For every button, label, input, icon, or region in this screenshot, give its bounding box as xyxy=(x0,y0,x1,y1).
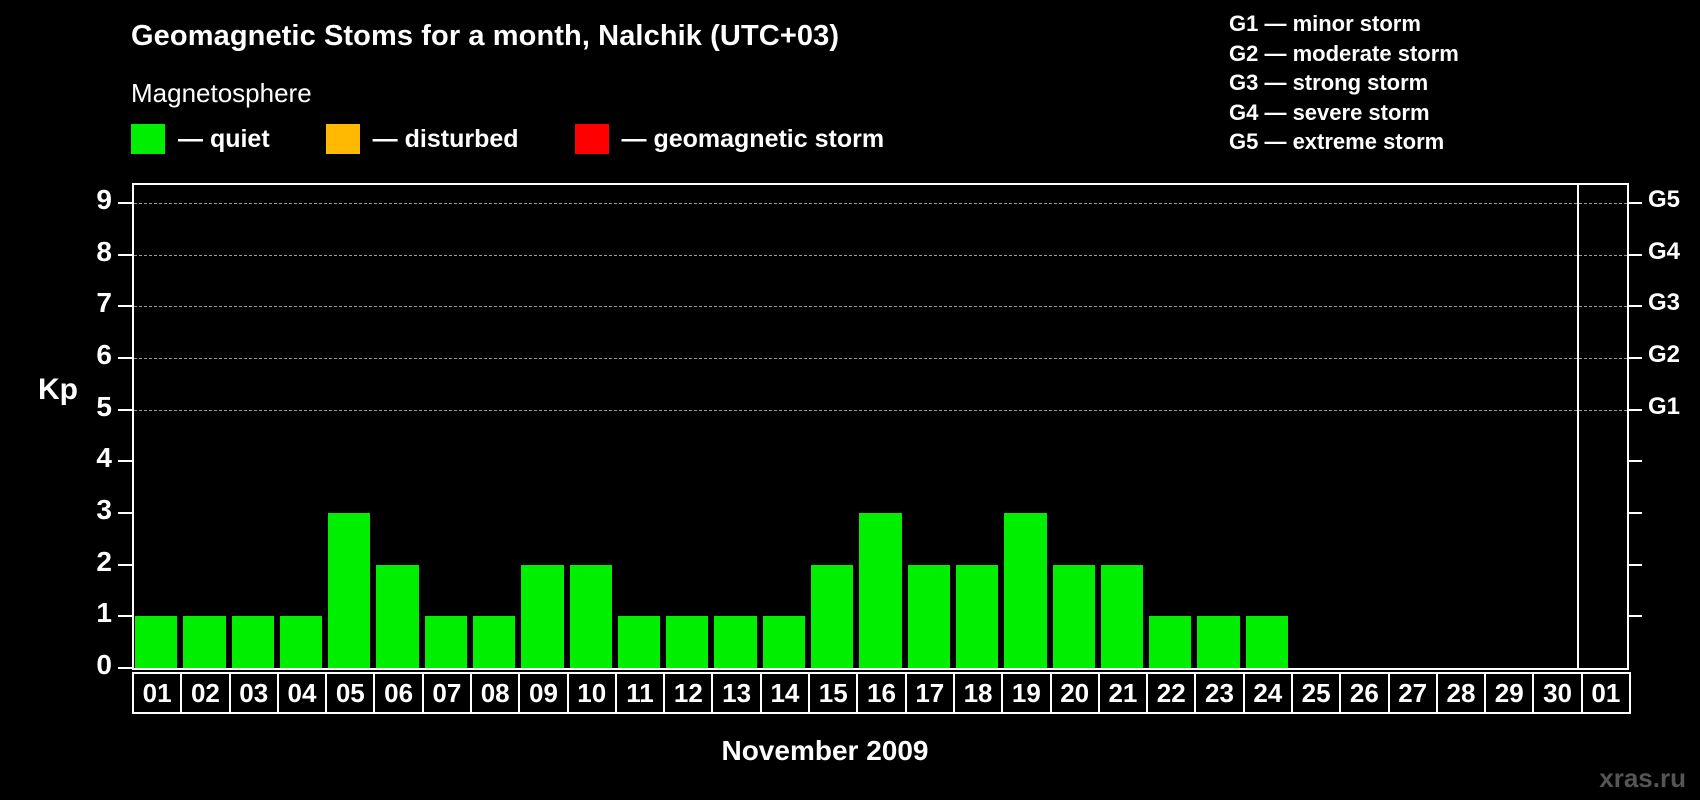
plot-inner-right-border xyxy=(1577,183,1579,670)
y-tick-4 xyxy=(118,460,132,462)
bar-day-17 xyxy=(908,565,950,668)
bar-series xyxy=(132,183,1577,668)
green-swatch-icon xyxy=(131,124,165,154)
x-axis-day-cell: 12 xyxy=(663,672,713,714)
y-tick-label-4: 4 xyxy=(72,442,112,474)
x-axis-day-cell: 05 xyxy=(325,672,375,714)
plot-baseline xyxy=(132,668,1629,670)
bar-day-01 xyxy=(135,616,177,668)
red-swatch-icon xyxy=(575,124,609,154)
g-tick-label-g3: G3 xyxy=(1648,289,1680,317)
g-tick-kp-2 xyxy=(1629,564,1642,566)
y-tick-label-1: 1 xyxy=(72,597,112,629)
x-axis-day-cell: 14 xyxy=(760,672,810,714)
g-scale-row-g1: G1 — minor storm xyxy=(1229,9,1459,39)
bar-day-10 xyxy=(570,565,612,668)
x-axis-day-cell: 24 xyxy=(1243,672,1293,714)
x-axis-day-cell: 30 xyxy=(1532,672,1582,714)
g-tick-kp-3 xyxy=(1629,512,1642,514)
bar-day-13 xyxy=(714,616,756,668)
x-axis-day-cell: 11 xyxy=(615,672,665,714)
bar-day-14 xyxy=(763,616,805,668)
x-axis-day-cell: 25 xyxy=(1291,672,1341,714)
legend-item-disturbed: — disturbed xyxy=(326,124,519,154)
x-axis-day-cell: 17 xyxy=(905,672,955,714)
bar-day-23 xyxy=(1197,616,1239,668)
bar-day-07 xyxy=(425,616,467,668)
x-axis-day-cell: 20 xyxy=(1050,672,1100,714)
x-axis-day-cell: 07 xyxy=(422,672,472,714)
plot-outer-right-border xyxy=(1627,183,1629,670)
magnetosphere-heading: Magnetosphere xyxy=(131,78,312,109)
bar-day-02 xyxy=(183,616,225,668)
x-axis-day-cell: 19 xyxy=(1001,672,1051,714)
y-tick-label-9: 9 xyxy=(72,184,112,216)
x-axis-day-cell: 18 xyxy=(953,672,1003,714)
bar-day-04 xyxy=(280,616,322,668)
g-tick-kp-4 xyxy=(1629,460,1642,462)
x-axis-day-cell: 26 xyxy=(1339,672,1389,714)
x-axis-day-cell: 01 xyxy=(1581,672,1631,714)
y-tick-2 xyxy=(118,564,132,566)
legend-label-quiet: — quiet xyxy=(178,125,270,154)
x-axis-day-cell: 10 xyxy=(567,672,617,714)
g-scale-row-g5: G5 — extreme storm xyxy=(1229,127,1459,157)
chart-canvas: Geomagnetic Stoms for a month, Nalchik (… xyxy=(0,0,1700,800)
watermark: xras.ru xyxy=(1599,763,1686,794)
bar-day-16 xyxy=(859,513,901,668)
y-tick-label-0: 0 xyxy=(72,649,112,681)
y-tick-label-6: 6 xyxy=(72,339,112,371)
bar-day-20 xyxy=(1053,565,1095,668)
x-axis-day-cell: 29 xyxy=(1484,672,1534,714)
bar-day-18 xyxy=(956,565,998,668)
bar-day-08 xyxy=(473,616,515,668)
page-title: Geomagnetic Stoms for a month, Nalchik (… xyxy=(131,20,839,53)
y-axis-title: Kp xyxy=(38,373,78,407)
g-scale-legend: G1 — minor storm G2 — moderate storm G3 … xyxy=(1229,9,1459,157)
bar-day-05 xyxy=(328,513,370,668)
bar-day-22 xyxy=(1149,616,1191,668)
legend-item-quiet: — quiet xyxy=(131,124,270,154)
g-scale-row-g4: G4 — severe storm xyxy=(1229,98,1459,128)
x-axis-day-cell: 13 xyxy=(711,672,761,714)
y-tick-7 xyxy=(118,305,132,307)
y-tick-3 xyxy=(118,512,132,514)
x-axis-day-cell: 27 xyxy=(1388,672,1438,714)
x-axis-title: November 2009 xyxy=(0,735,1700,767)
g-tick-kp-6 xyxy=(1629,357,1642,359)
y-tick-label-2: 2 xyxy=(72,546,112,578)
x-axis-day-cell: 08 xyxy=(470,672,520,714)
g-tick-kp-8 xyxy=(1629,254,1642,256)
y-tick-label-7: 7 xyxy=(72,287,112,319)
bar-day-11 xyxy=(618,616,660,668)
x-axis-day-cell: 06 xyxy=(373,672,423,714)
g-tick-label-g5: G5 xyxy=(1648,186,1680,214)
bar-day-24 xyxy=(1246,616,1288,668)
x-axis-day-cell: 21 xyxy=(1098,672,1148,714)
y-tick-0 xyxy=(118,667,132,669)
g-tick-kp-7 xyxy=(1629,305,1642,307)
y-tick-9 xyxy=(118,202,132,204)
orange-swatch-icon xyxy=(326,124,360,154)
x-axis-title-text: November 2009 xyxy=(721,735,928,767)
x-axis-day-cell: 22 xyxy=(1146,672,1196,714)
y-tick-1 xyxy=(118,615,132,617)
g-tick-label-g1: G1 xyxy=(1648,393,1680,421)
y-tick-label-8: 8 xyxy=(72,236,112,268)
g-scale-row-g3: G3 — strong storm xyxy=(1229,68,1459,98)
bar-day-03 xyxy=(232,616,274,668)
x-axis-day-cell: 04 xyxy=(277,672,327,714)
x-axis-day-cell: 02 xyxy=(180,672,230,714)
x-axis-day-cell: 01 xyxy=(132,672,182,714)
bar-day-15 xyxy=(811,565,853,668)
y-tick-8 xyxy=(118,254,132,256)
y-tick-label-5: 5 xyxy=(72,391,112,423)
y-tick-5 xyxy=(118,409,132,411)
bar-day-19 xyxy=(1004,513,1046,668)
bar-day-09 xyxy=(521,565,563,668)
g-tick-kp-5 xyxy=(1629,409,1642,411)
legend-label-disturbed: — disturbed xyxy=(373,125,519,154)
x-axis-day-cell: 16 xyxy=(856,672,906,714)
bar-day-06 xyxy=(376,565,418,668)
x-axis-day-cell: 28 xyxy=(1436,672,1486,714)
legend-item-storm: — geomagnetic storm xyxy=(575,124,885,154)
y-tick-label-3: 3 xyxy=(72,494,112,526)
x-axis-day-cell: 15 xyxy=(808,672,858,714)
g-tick-kp-1 xyxy=(1629,615,1642,617)
bar-day-21 xyxy=(1101,565,1143,668)
y-tick-6 xyxy=(118,357,132,359)
g-tick-kp-9 xyxy=(1629,202,1642,204)
legend: — quiet — disturbed — geomagnetic storm xyxy=(131,122,884,156)
x-axis-day-cell: 23 xyxy=(1194,672,1244,714)
bar-day-12 xyxy=(666,616,708,668)
legend-label-storm: — geomagnetic storm xyxy=(622,125,885,154)
g-tick-label-g2: G2 xyxy=(1648,341,1680,369)
x-axis-day-cell: 03 xyxy=(229,672,279,714)
g-scale-row-g2: G2 — moderate storm xyxy=(1229,39,1459,69)
g-tick-label-g4: G4 xyxy=(1648,238,1680,266)
x-axis-day-cell: 09 xyxy=(518,672,568,714)
